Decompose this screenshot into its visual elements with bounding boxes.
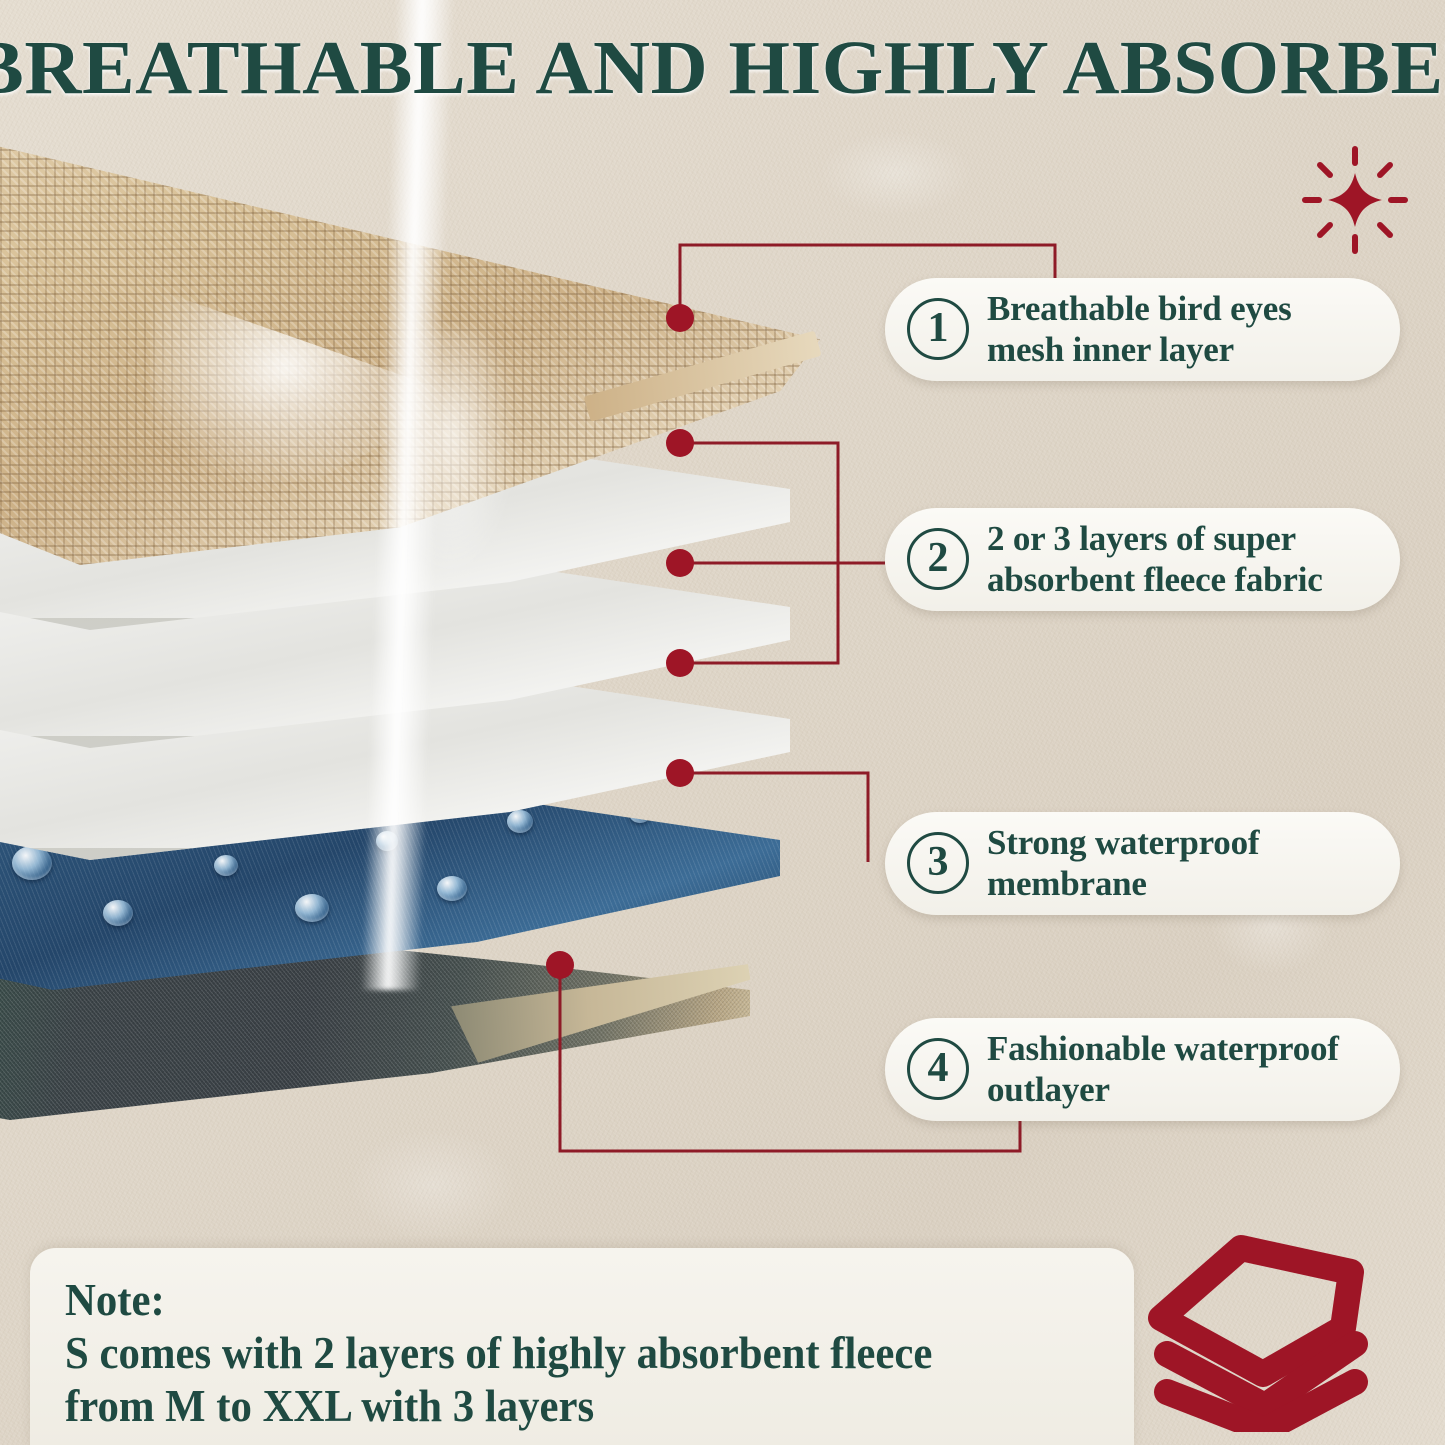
callout-text-1: Breathable bird eyes mesh inner layer: [987, 288, 1292, 371]
note-panel: Note: S comes with 2 layers of highly ab…: [30, 1248, 1134, 1445]
callout-3[interactable]: 3 Strong waterproof membrane: [885, 812, 1400, 915]
callout-1[interactable]: 1 Breathable bird eyes mesh inner layer: [885, 278, 1400, 381]
callout-number-4: 4: [907, 1038, 969, 1100]
note-line-2: from M to XXL with 3 layers: [65, 1380, 1059, 1433]
callout-text-line: Fashionable waterproof: [987, 1028, 1339, 1069]
callout-number-2: 2: [907, 528, 969, 590]
sparkle-icon: [1296, 145, 1414, 255]
callout-text-4: Fashionable waterproof outlayer: [987, 1028, 1339, 1111]
infographic-canvas: BREATHABLE AND HIGHLY ABSORBENT: [0, 0, 1445, 1445]
callout-text-2: 2 or 3 layers of super absorbent fleece …: [987, 518, 1323, 601]
product-layer-bird-eyes-mesh: [0, 95, 820, 565]
page-title: BREATHABLE AND HIGHLY ABSORBENT: [0, 30, 1445, 106]
callout-text-line: outlayer: [987, 1069, 1339, 1110]
callout-4[interactable]: 4 Fashionable waterproof outlayer: [885, 1018, 1400, 1121]
callout-text-line: membrane: [987, 863, 1259, 904]
callout-text-line: Breathable bird eyes: [987, 288, 1292, 329]
note-label: Note:: [65, 1274, 1059, 1327]
callout-text-line: 2 or 3 layers of super: [987, 518, 1323, 559]
callout-number-3: 3: [907, 832, 969, 894]
fabric-layer-stack-illustration: [0, 0, 900, 1180]
callout-text-3: Strong waterproof membrane: [987, 822, 1259, 905]
callout-text-line: absorbent fleece fabric: [987, 559, 1323, 600]
mesh-sheet: [0, 95, 820, 565]
callout-2[interactable]: 2 2 or 3 layers of super absorbent fleec…: [885, 508, 1400, 611]
layers-stack-icon: [1145, 1232, 1393, 1432]
callout-number-1: 1: [907, 298, 969, 360]
callout-text-line: Strong waterproof: [987, 822, 1259, 863]
callout-text-line: mesh inner layer: [987, 329, 1292, 370]
note-line-1: S comes with 2 layers of highly absorben…: [65, 1327, 1059, 1380]
